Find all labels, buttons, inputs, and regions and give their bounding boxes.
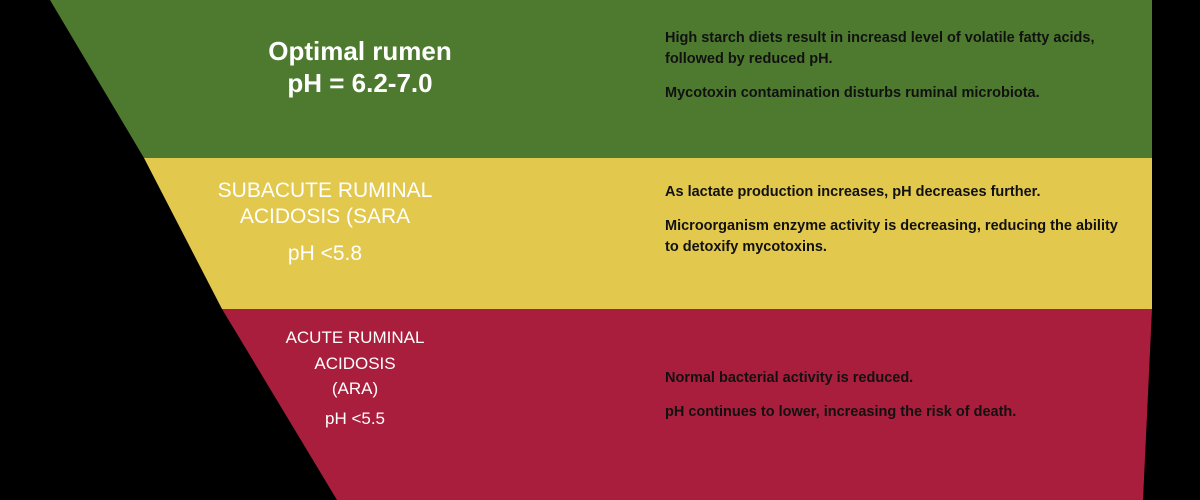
band-acute-ruminal-acidosis-shape bbox=[0, 0, 1200, 500]
band-acute-ruminal-acidosis-polygon bbox=[222, 309, 1152, 500]
rumen-ph-infographic: Optimal rumen pH = 6.2-7.0 High starch d… bbox=[0, 0, 1200, 500]
